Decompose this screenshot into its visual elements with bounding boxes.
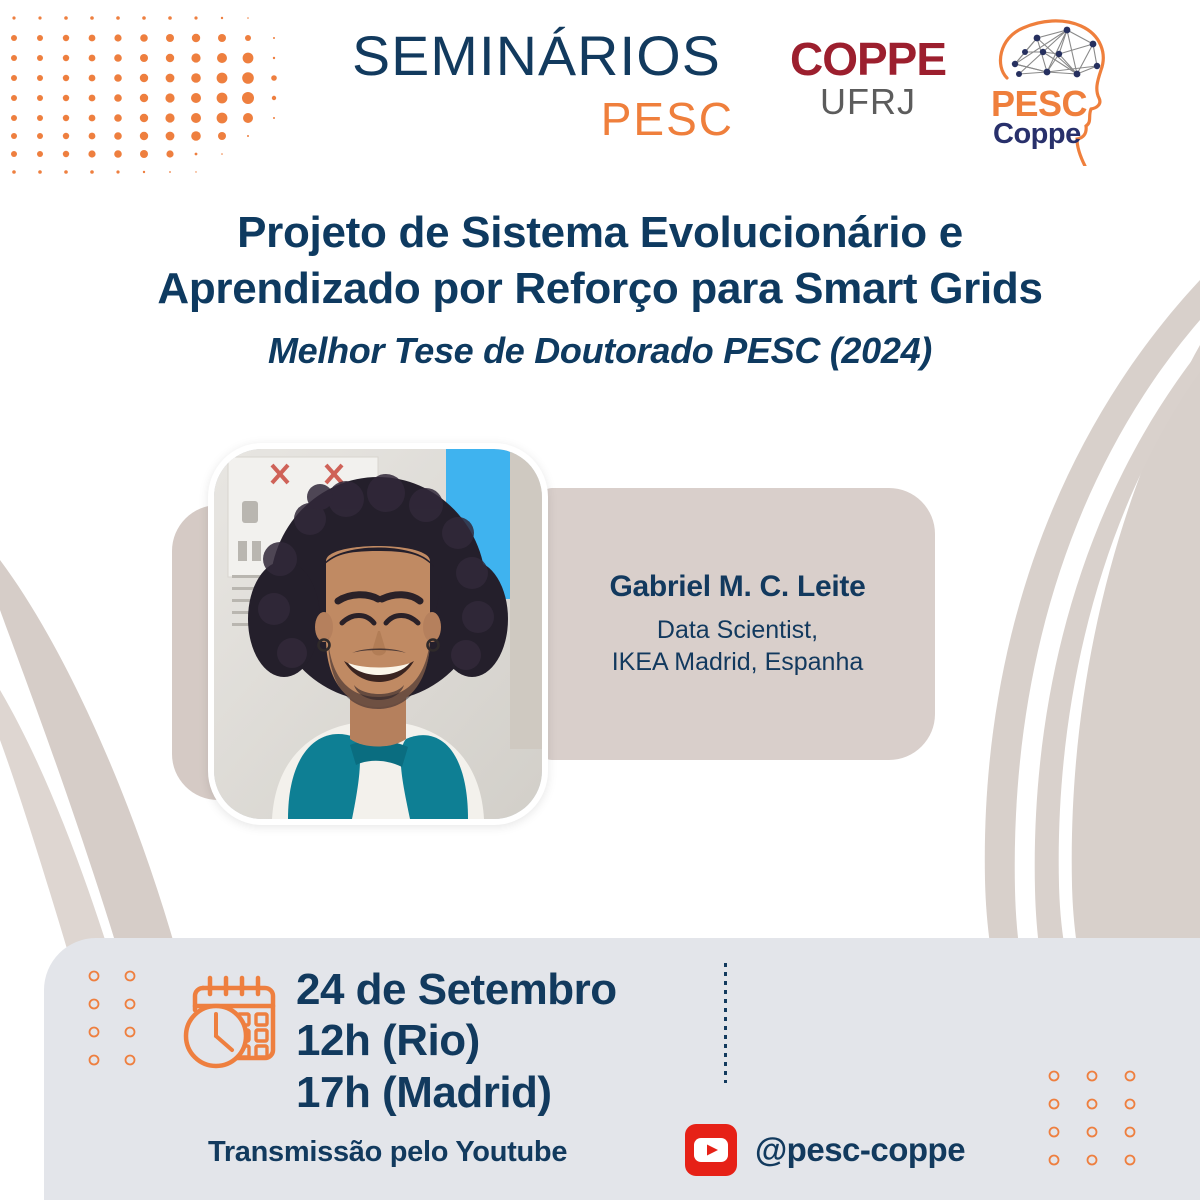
youtube-channel-row[interactable]: @pesc-coppe — [685, 1124, 965, 1176]
youtube-play-glyph — [694, 1138, 728, 1162]
title-line-2: Aprendizado por Reforço para Smart Grids — [60, 261, 1140, 317]
poster-canvas: SEMINÁRIOS PESC COPPE UFRJ — [0, 0, 1200, 1200]
dot-pattern-top-left — [2, 8, 302, 178]
event-time-rio: 12h (Rio) — [296, 1015, 696, 1066]
ring-dot-pattern-left — [84, 966, 174, 1071]
ring-dot-pattern-right — [1044, 1066, 1154, 1171]
youtube-icon[interactable] — [685, 1124, 737, 1176]
event-details-panel: 24 de Setembro 12h (Rio) 17h (Madrid) Tr… — [44, 938, 1200, 1200]
seminarios-wordmark: SEMINÁRIOS — [352, 28, 750, 84]
seminarios-pesc-logo: SEMINÁRIOS PESC — [352, 28, 742, 148]
speaker-portrait-illustration — [214, 449, 542, 819]
speaker-info-card: Gabriel M. C. Leite Data Scientist, IKEA… — [540, 488, 935, 760]
event-date: 24 de Setembro — [296, 964, 696, 1015]
ufrj-wordmark: UFRJ — [778, 84, 958, 120]
title-subtitle: Melhor Tese de Doutorado PESC (2024) — [60, 328, 1140, 375]
speaker-photo-frame — [208, 443, 548, 825]
speaker-role-line-2: IKEA Madrid, Espanha — [612, 646, 864, 678]
event-datetime: 24 de Setembro 12h (Rio) 17h (Madrid) — [296, 964, 696, 1118]
speaker-photo — [214, 449, 542, 819]
speaker-name: Gabriel M. C. Leite — [609, 570, 865, 604]
title-line-1: Projeto de Sistema Evolucionário e — [60, 205, 1140, 261]
broadcast-label: Transmissão pelo Youtube — [208, 1136, 567, 1169]
poster-header: SEMINÁRIOS PESC COPPE UFRJ — [0, 0, 1200, 175]
pesc-wordmark: PESC — [352, 96, 742, 142]
pesc-logo-label: PESC — [991, 86, 1087, 122]
event-time-madrid: 17h (Madrid) — [296, 1067, 696, 1118]
coppe-wordmark: COPPE — [778, 38, 958, 82]
coppe-logo-label: Coppe — [993, 120, 1081, 149]
speaker-role-line-1: Data Scientist, — [612, 614, 864, 646]
youtube-handle[interactable]: @pesc-coppe — [755, 1131, 965, 1169]
pesc-coppe-logo: PESC Coppe — [985, 8, 1115, 166]
coppe-ufrj-logo: COPPE UFRJ — [778, 38, 958, 138]
speaker-role: Data Scientist, IKEA Madrid, Espanha — [612, 614, 864, 678]
calendar-clock-icon — [179, 970, 284, 1075]
poster-title-block: Projeto de Sistema Evolucionário e Apren… — [60, 205, 1140, 374]
vertical-dotted-divider — [724, 963, 727, 1083]
